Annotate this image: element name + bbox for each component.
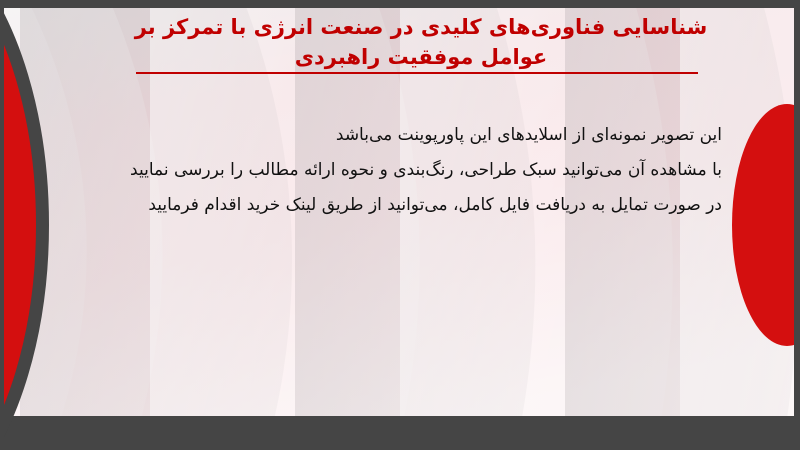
red-curved-panel-shape: [0, 0, 90, 450]
body-line-1: این تصویر نمونه‌ای از اسلایدهای این پاور…: [110, 118, 722, 153]
slide-title-line-2: عوامل موفقیت راهبردی: [120, 42, 722, 72]
slide-body: این تصویر نمونه‌ای از اسلایدهای این پاور…: [110, 118, 722, 223]
slide-title-line-1: شناسایی فناوری‌های کلیدی در صنعت انرژی ب…: [120, 12, 722, 42]
slide-frame-right: [794, 0, 800, 450]
slide-frame-bottom: [0, 416, 800, 450]
slide-title: شناسایی فناوری‌های کلیدی در صنعت انرژی ب…: [120, 12, 722, 73]
slide-frame-top: [0, 0, 800, 8]
slide-frame-left: [0, 0, 4, 450]
body-line-2: با مشاهده آن می‌توانید سبک طراحی، رنگ‌بن…: [110, 153, 722, 188]
title-underline: [136, 72, 698, 74]
body-line-3: در صورت تمایل به دریافت فایل کامل، می‌تو…: [110, 188, 722, 223]
presentation-slide: شناسایی فناوری‌های کلیدی در صنعت انرژی ب…: [0, 0, 800, 450]
